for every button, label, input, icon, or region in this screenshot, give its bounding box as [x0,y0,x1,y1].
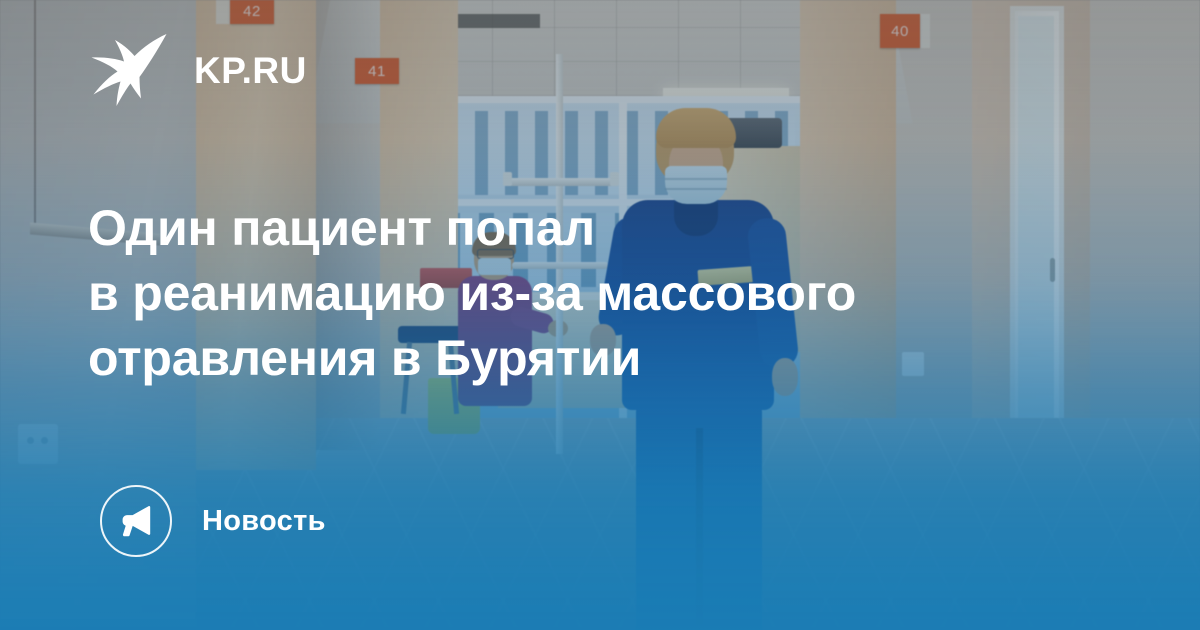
news-share-card: 42 41 40 [0,0,1200,630]
swallow-bird-icon [88,32,172,108]
brand-lockup[interactable]: KP.RU [88,32,307,108]
badge-label: Новость [202,507,326,536]
headline-line-2: в реанимацию из-за массового [88,261,1098,326]
headline-line-1: Один пациент попал [88,196,1098,261]
status-badge[interactable]: Новость [100,485,326,557]
headline-line-3: отравления в Бурятии [88,326,1098,391]
badge-icon-circle [100,485,172,557]
brand-name: KP.RU [194,52,307,89]
megaphone-icon [118,503,154,539]
card-content: KP.RU Один пациент попал в реанимацию из… [0,0,1200,630]
page-title: Один пациент попал в реанимацию из-за ма… [88,196,1098,391]
